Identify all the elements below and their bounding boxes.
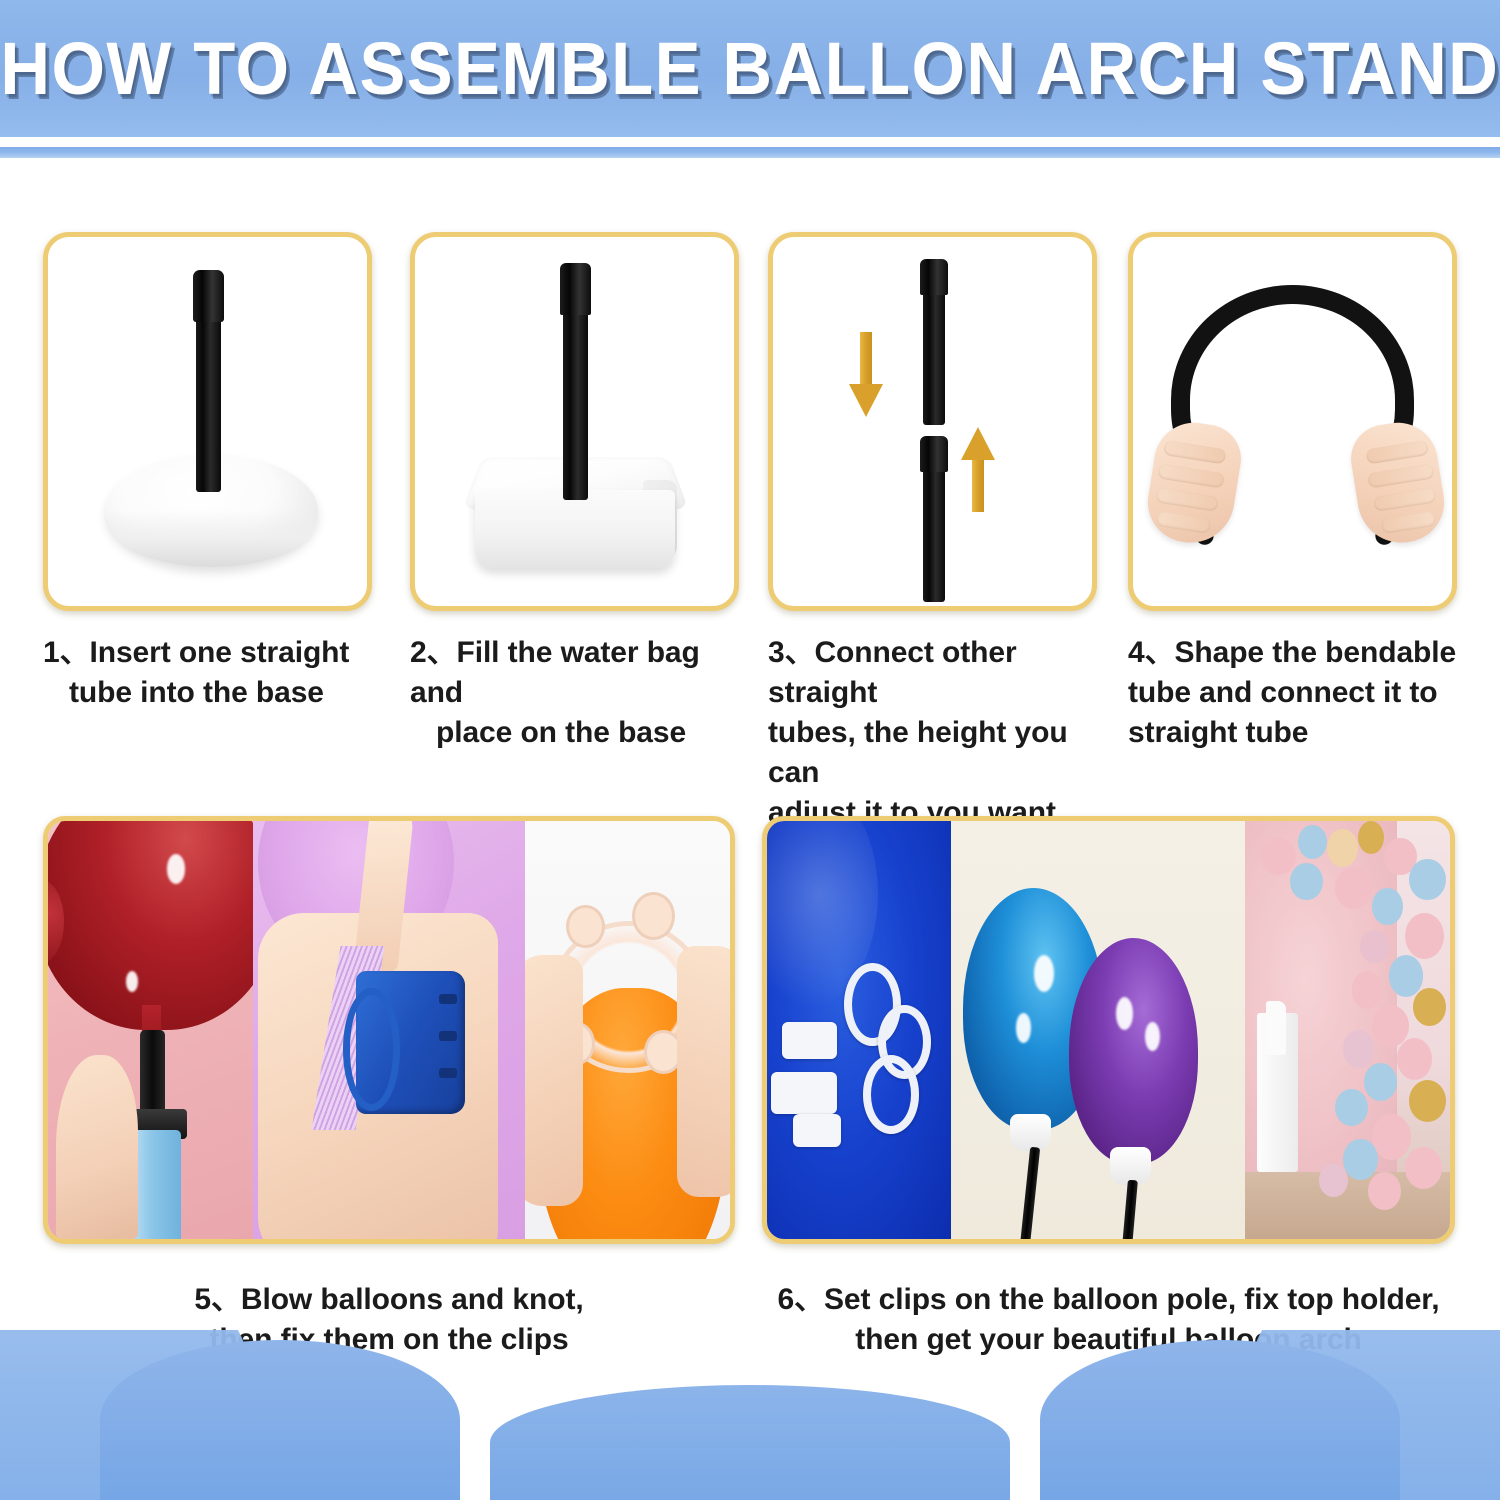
water-bag-front-face xyxy=(475,490,675,568)
step-1: 1、Insert one straight tube into the base xyxy=(43,232,372,713)
step-4: 4、Shape the bendable tube and connect it… xyxy=(1128,232,1457,753)
tube-cap-shape xyxy=(193,270,224,322)
photo-clip-knot-balloon xyxy=(253,821,526,1239)
step-5-caption-line-1: 5、Blow balloons and knot, xyxy=(43,1280,735,1320)
photo-red-balloon-pump xyxy=(48,821,253,1239)
step-2-caption: 2、Fill the water bag and place on the ba… xyxy=(410,633,739,753)
wave-right-inner xyxy=(1040,1340,1400,1500)
step-3-caption-line-2: tubes, the height you can xyxy=(768,713,1097,793)
steps-row-top: 1、Insert one straight tube into the base… xyxy=(0,232,1500,772)
wave-left-inner xyxy=(100,1340,460,1500)
step-4-caption: 4、Shape the bendable tube and connect it… xyxy=(1128,633,1457,753)
balloon-pole xyxy=(1020,1147,1040,1239)
wave-center xyxy=(490,1385,1010,1500)
arrow-down-icon xyxy=(849,332,883,417)
step-4-illustration-card xyxy=(1128,232,1457,611)
upper-tube-cap xyxy=(920,259,948,295)
step-1-caption-line-1: 1、Insert one straight xyxy=(43,633,372,673)
step-3-illustration-card xyxy=(768,232,1097,611)
page-title: HOW TO ASSEMBLE BALLON ARCH STAND xyxy=(1,26,1500,111)
step-5-photo-panel xyxy=(43,816,735,1244)
step-1-caption: 1、Insert one straight tube into the base xyxy=(43,633,372,713)
steps-row-bottom xyxy=(0,816,1500,1356)
step-6-caption-line-1: 6、Set clips on the balloon pole, fix top… xyxy=(762,1280,1455,1320)
lower-tube-cap xyxy=(920,436,948,472)
step-1-illustration-card xyxy=(43,232,372,611)
header-divider-rule xyxy=(0,147,1500,158)
step-2-caption-line-1: 2、Fill the water bag and xyxy=(410,633,739,713)
page-header: HOW TO ASSEMBLE BALLON ARCH STAND xyxy=(0,0,1500,137)
infographic-page: HOW TO ASSEMBLE BALLON ARCH STAND 1、Inse… xyxy=(0,0,1500,1500)
step-1-caption-line-2: tube into the base xyxy=(43,673,372,713)
photo-finished-balloon-arch xyxy=(1245,821,1450,1239)
top-holder xyxy=(1010,1114,1051,1152)
right-hand-shape xyxy=(1346,417,1450,549)
photo-balloons-on-poles xyxy=(951,821,1245,1239)
photo-knot-tool-orange-balloon xyxy=(525,821,730,1239)
left-hand-shape xyxy=(1142,417,1246,549)
step-2-illustration-card xyxy=(410,232,739,611)
step-6-photo-panel xyxy=(762,816,1455,1244)
step-2: 2、Fill the water bag and place on the ba… xyxy=(410,232,739,753)
step-3-caption: 3、Connect other straight tubes, the heig… xyxy=(768,633,1097,832)
step-4-caption-line-2: tube and connect it to xyxy=(1128,673,1457,713)
tube-cap-shape xyxy=(560,263,591,315)
step-2-caption-line-2: place on the base xyxy=(410,713,739,753)
step-4-caption-line-1: 4、Shape the bendable xyxy=(1128,633,1457,673)
step-4-caption-line-3: straight tube xyxy=(1128,713,1457,753)
footer-wave-decoration xyxy=(0,1330,1500,1500)
step-3: 3、Connect other straight tubes, the heig… xyxy=(768,232,1097,832)
photo-white-clips-on-blue-balloon xyxy=(767,821,951,1239)
arrow-up-icon xyxy=(961,427,995,512)
step-3-caption-line-1: 3、Connect other straight xyxy=(768,633,1097,713)
balloon-pole xyxy=(1122,1180,1138,1239)
